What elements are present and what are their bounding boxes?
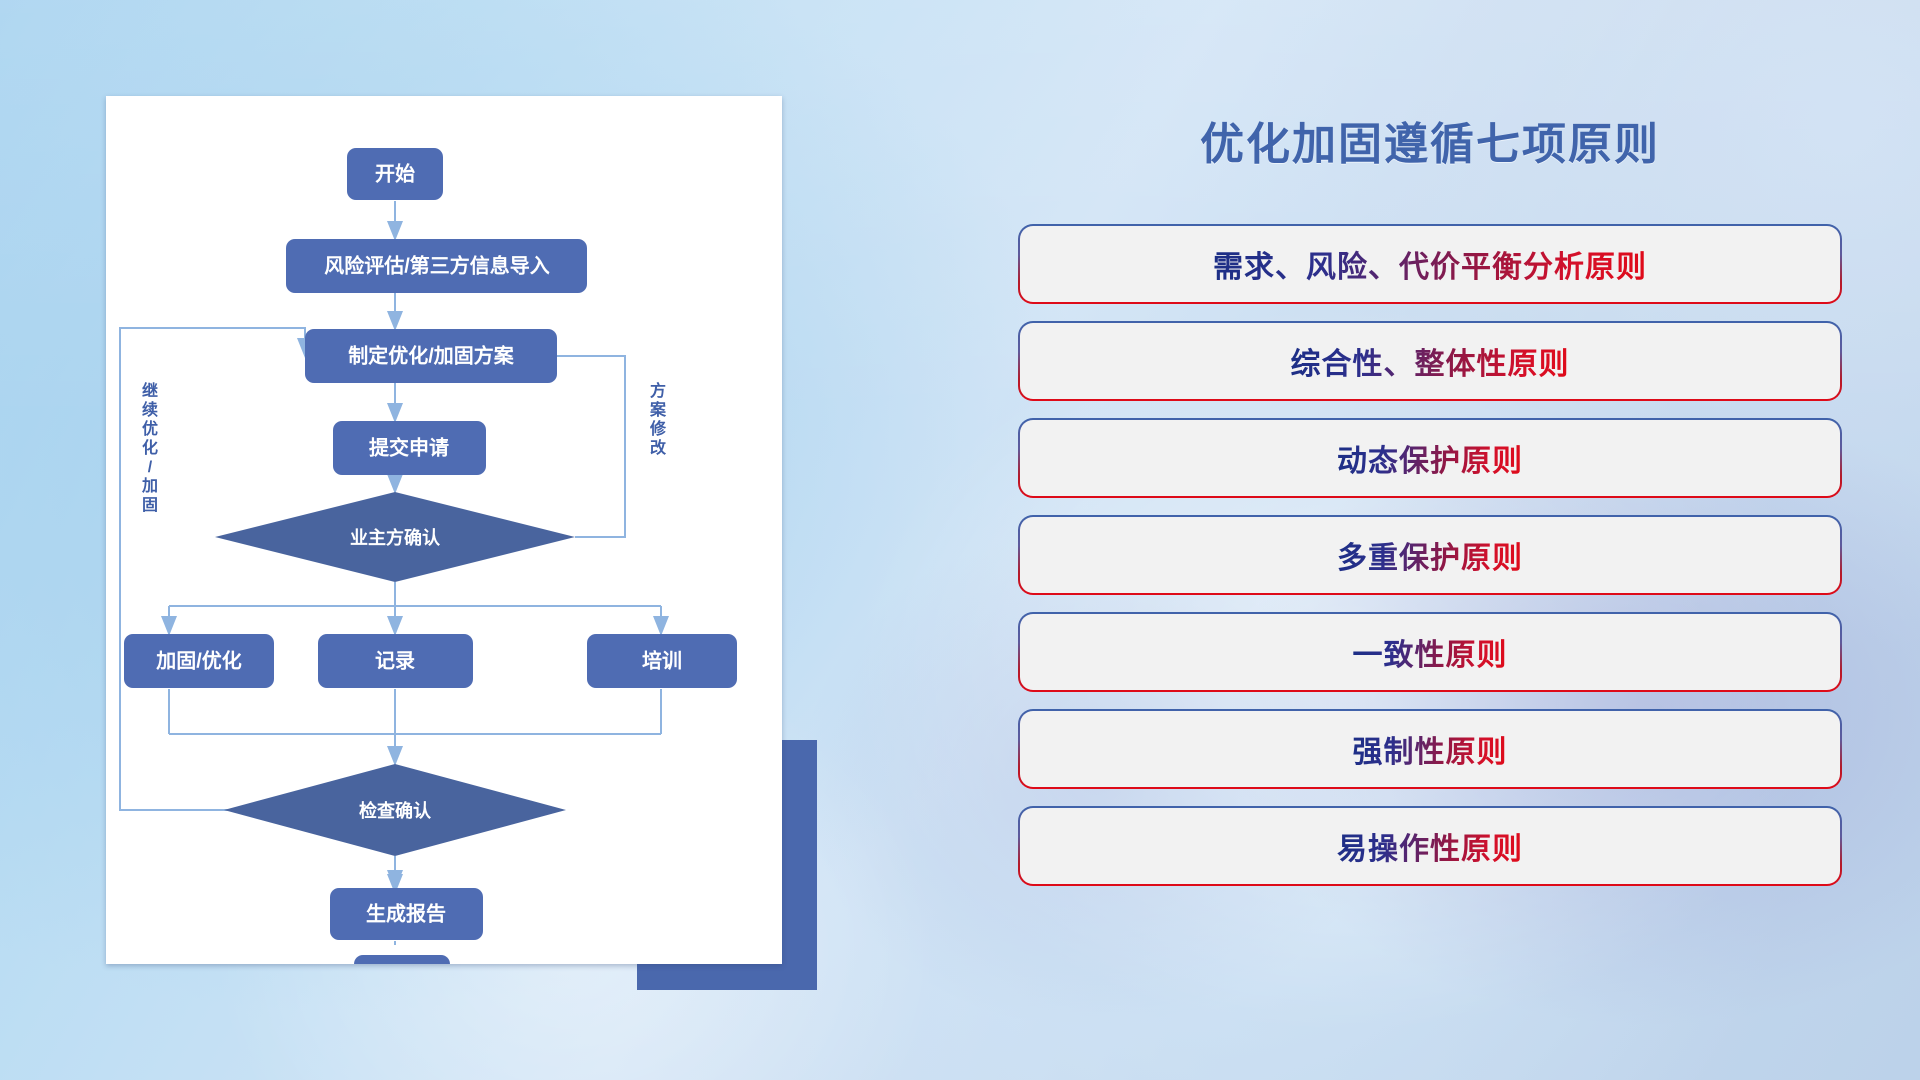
principle-label: 综合性、整体性原则 — [1291, 339, 1570, 383]
principles-list: 需求、风险、代价平衡分析原则 综合性、整体性原则 动态保护原则 多重保护原则 一… — [1020, 226, 1840, 884]
flowchart-diagram: 开始 风险评估/第三方信息导入 制定优化/加固方案 提交申请 业主方确认 加固/… — [106, 96, 782, 964]
flow-node-report-label: 生成报告 — [366, 901, 446, 925]
principle-item-7[interactable]: 易操作性原则 — [1020, 808, 1840, 884]
flow-node-risk-assessment[interactable]: 风险评估/第三方信息导入 — [286, 239, 587, 293]
panel-title: 优化加固遵循七项原则 — [1020, 108, 1840, 172]
flow-node-check[interactable]: 检查确认 — [224, 764, 566, 856]
flow-node-check-label: 检查确认 — [359, 800, 432, 821]
flow-node-start-label: 开始 — [375, 161, 415, 185]
principle-label: 强制性原则 — [1353, 727, 1508, 771]
principle-label: 多重保护原则 — [1337, 533, 1523, 577]
flow-node-end[interactable]: 结束 — [354, 955, 450, 964]
principle-label: 易操作性原则 — [1337, 824, 1523, 868]
flow-node-train-label: 培训 — [642, 648, 682, 672]
principle-item-2[interactable]: 综合性、整体性原则 — [1020, 323, 1840, 399]
flow-node-plan-label: 制定优化/加固方案 — [348, 343, 515, 367]
flow-node-submit[interactable]: 提交申请 — [333, 421, 486, 475]
flow-node-owner-confirm-label: 业主方确认 — [350, 527, 441, 548]
principle-label: 一致性原则 — [1353, 630, 1508, 674]
principle-item-1[interactable]: 需求、风险、代价平衡分析原则 — [1020, 226, 1840, 302]
flow-node-record-label: 记录 — [375, 649, 415, 672]
principles-panel: 优化加固遵循七项原则 需求、风险、代价平衡分析原则 综合性、整体性原则 动态保护… — [1020, 96, 1840, 996]
flow-node-reinforce[interactable]: 加固/优化 — [124, 634, 274, 688]
principle-item-3[interactable]: 动态保护原则 — [1020, 420, 1840, 496]
flow-node-report[interactable]: 生成报告 — [330, 888, 483, 940]
flow-node-record[interactable]: 记录 — [318, 634, 473, 688]
flow-node-risk-assessment-label: 风险评估/第三方信息导入 — [324, 253, 550, 277]
flow-edge-label-left-loop: 继续优化/加固 — [141, 381, 158, 514]
principle-label: 需求、风险、代价平衡分析原则 — [1213, 242, 1647, 286]
flow-node-owner-confirm[interactable]: 业主方确认 — [215, 492, 575, 582]
flow-node-reinforce-label: 加固/优化 — [155, 648, 242, 672]
flow-node-submit-label: 提交申请 — [369, 435, 449, 459]
flow-node-start[interactable]: 开始 — [347, 148, 443, 200]
flow-edge-label-right-loop: 方案修改 — [649, 381, 667, 457]
flow-node-train[interactable]: 培训 — [587, 634, 737, 688]
principle-item-6[interactable]: 强制性原则 — [1020, 711, 1840, 787]
principle-item-5[interactable]: 一致性原则 — [1020, 614, 1840, 690]
flowchart-card: 开始 风险评估/第三方信息导入 制定优化/加固方案 提交申请 业主方确认 加固/… — [106, 96, 782, 964]
principle-label: 动态保护原则 — [1337, 436, 1523, 480]
flow-node-plan[interactable]: 制定优化/加固方案 — [305, 329, 557, 383]
principle-item-4[interactable]: 多重保护原则 — [1020, 517, 1840, 593]
